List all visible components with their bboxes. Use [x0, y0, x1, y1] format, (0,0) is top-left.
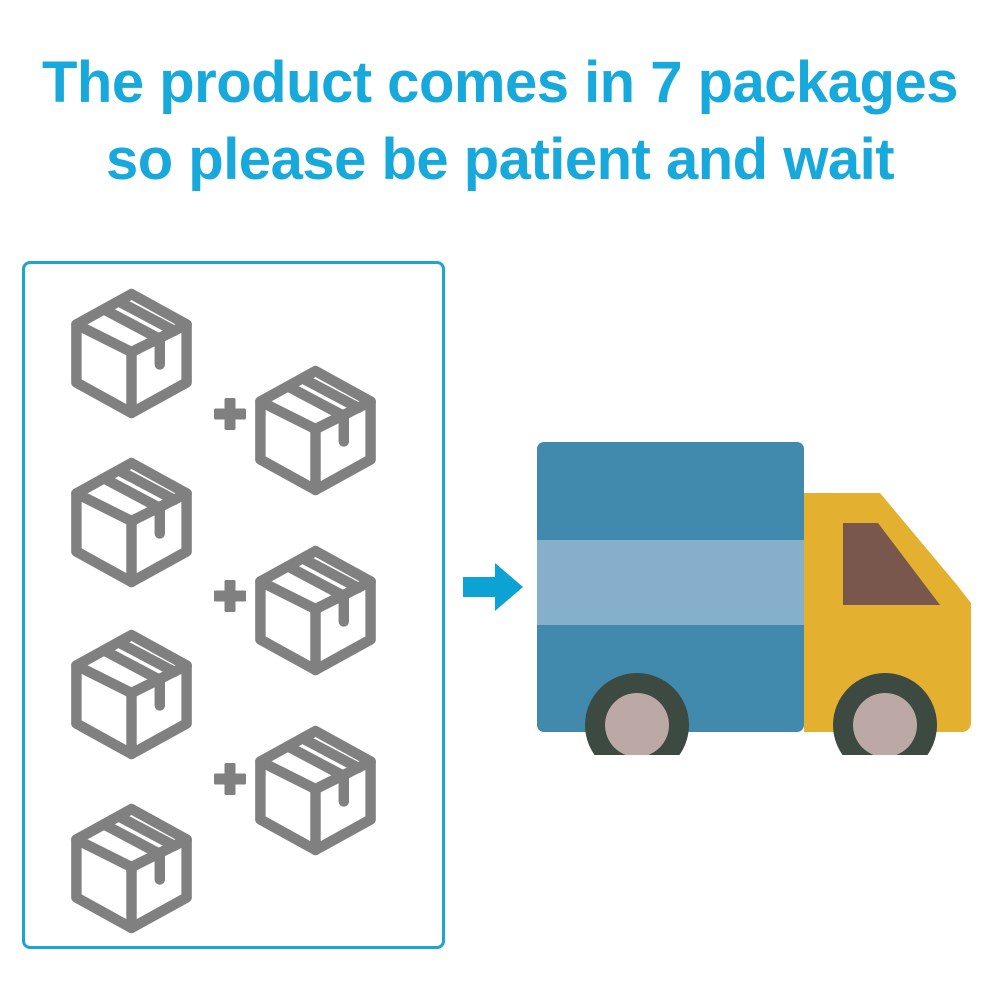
page-title: The product comes in 7 packages so pleas… — [0, 44, 1000, 198]
package-icon-3 — [59, 450, 204, 595]
package-icon-2 — [243, 358, 388, 503]
poster-canvas: The product comes in 7 packages so pleas… — [0, 0, 1000, 1000]
package-icon-7 — [59, 796, 204, 941]
right-arrow-icon — [463, 561, 523, 618]
package-icon-4 — [243, 538, 388, 683]
package-icon-5 — [59, 622, 204, 767]
package-icon-1 — [59, 281, 204, 426]
package-icon-6 — [243, 718, 388, 863]
package-group-panel: + — [22, 261, 445, 949]
delivery-truck-illustration — [520, 425, 990, 760]
